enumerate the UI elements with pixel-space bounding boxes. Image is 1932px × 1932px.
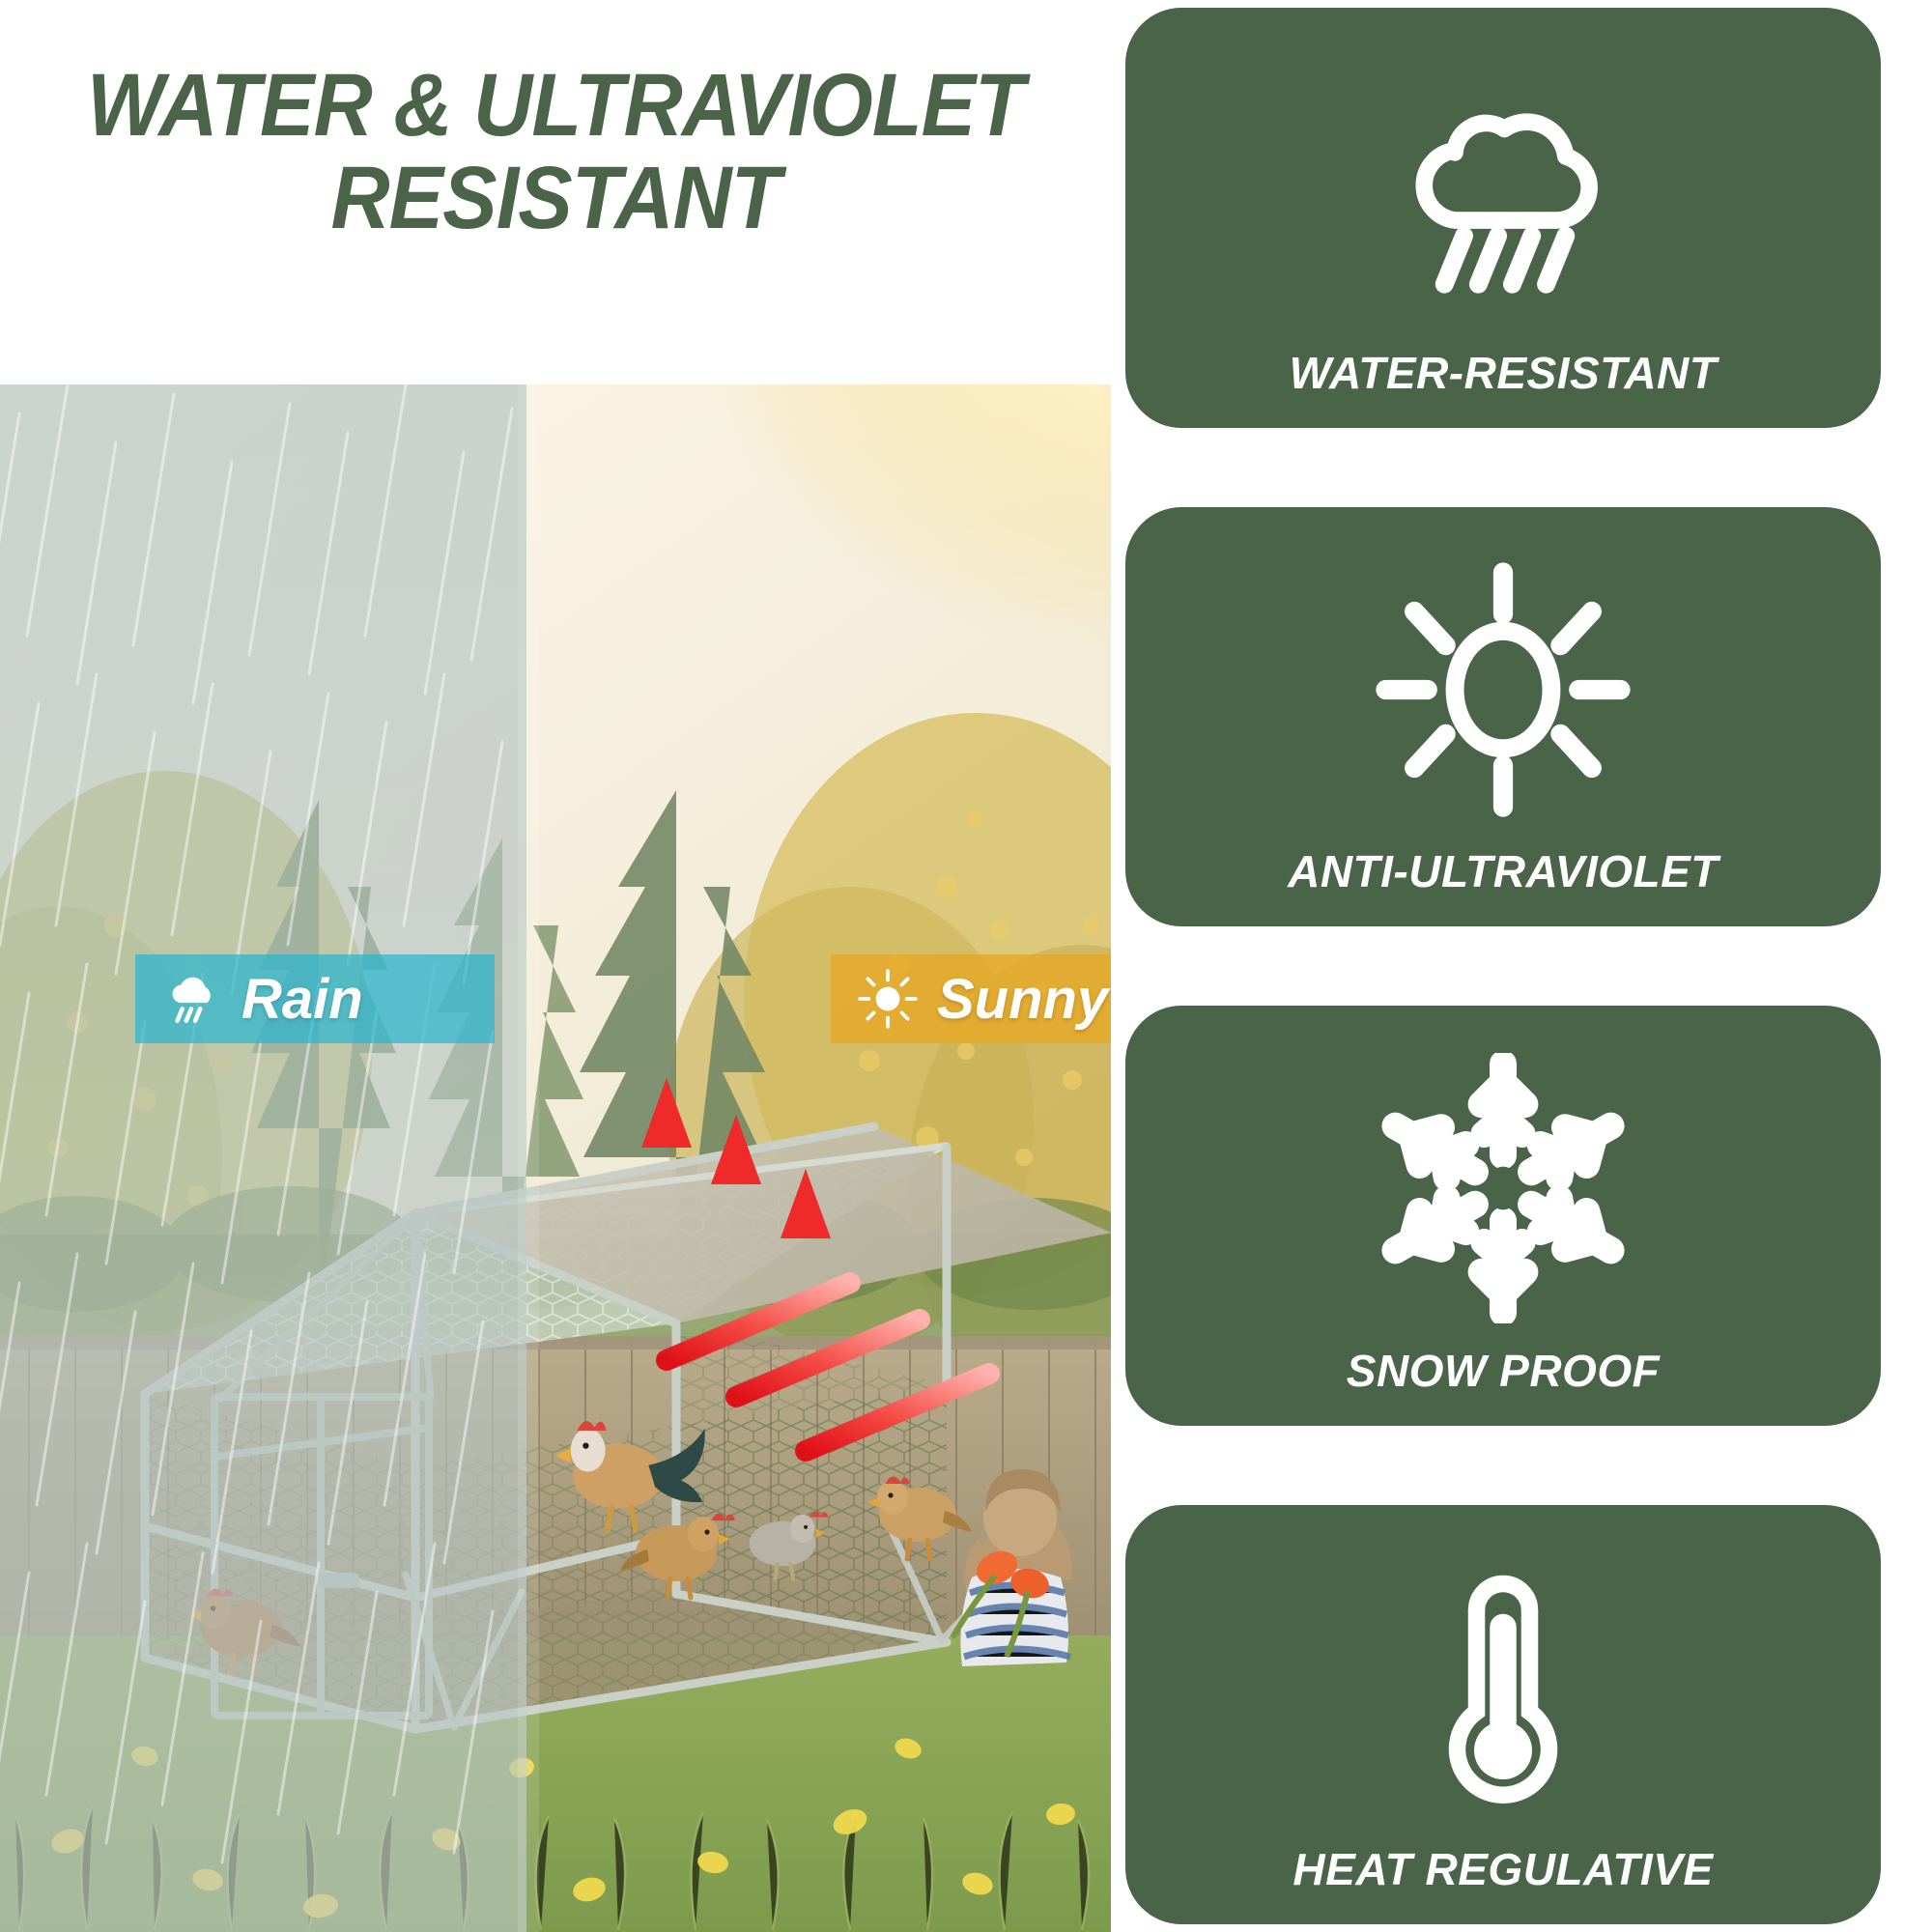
- page-title: WATER & ULTRAVIOLET RESISTANT: [44, 60, 1066, 244]
- rain-cloud-icon: [1143, 41, 1863, 341]
- feature-card-snow-proof: SNOW PROOF: [1125, 1006, 1881, 1426]
- feature-card-label: WATER-RESISTANT: [1290, 347, 1718, 399]
- snowflake-icon: [1143, 1038, 1863, 1339]
- feature-card-anti-ultraviolet: ANTI-ULTRAVIOLET: [1125, 507, 1881, 927]
- feature-card-label: HEAT REGULATIVE: [1293, 1843, 1713, 1895]
- feature-card-label: ANTI-ULTRAVIOLET: [1288, 845, 1719, 897]
- weather-badge-sunny: Sunny: [831, 954, 1111, 1043]
- product-feature-banner: WATER & ULTRAVIOLET RESISTANT: [0, 0, 1932, 1932]
- sun-icon: [856, 967, 920, 1031]
- feature-card-heat-regulative: HEAT REGULATIVE: [1125, 1505, 1881, 1925]
- weather-badge-rain-label: Rain: [241, 967, 363, 1032]
- rain-cloud-icon: [160, 967, 224, 1031]
- sun-icon: [1143, 540, 1863, 840]
- feature-card-list: WATER-RESISTANT: [1125, 8, 1881, 1924]
- weather-badge-rain: Rain: [135, 954, 495, 1043]
- thermometer-icon: [1143, 1538, 1863, 1838]
- scene-illustration: [0, 384, 1111, 1932]
- weather-badge-sunny-label: Sunny: [937, 967, 1108, 1032]
- product-photo: Rain Sunn: [0, 384, 1111, 1932]
- feature-card-water-resistant: WATER-RESISTANT: [1125, 8, 1881, 428]
- feature-card-label: SNOW PROOF: [1347, 1345, 1660, 1397]
